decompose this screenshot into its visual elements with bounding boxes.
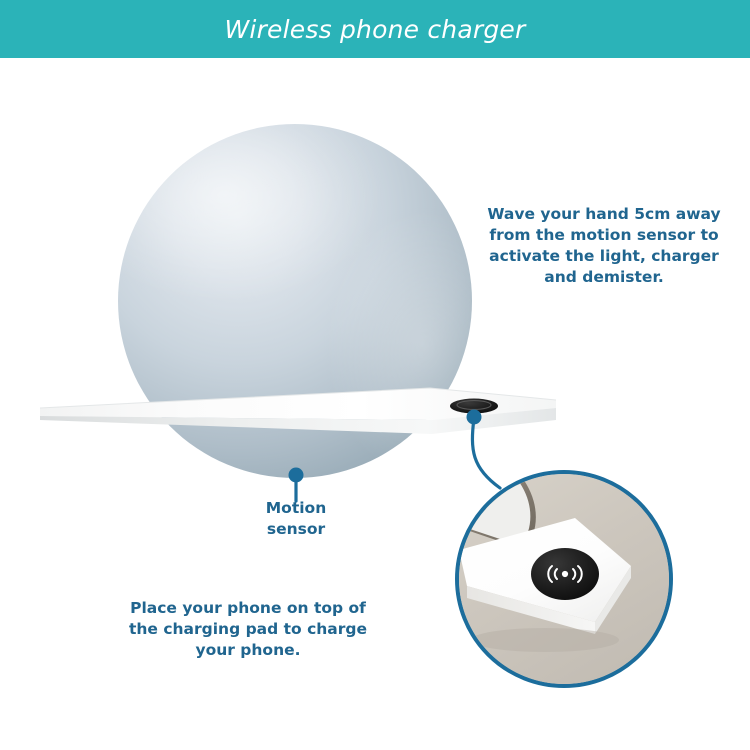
inset-pad-center-dot (562, 571, 568, 577)
charging-pad (450, 399, 498, 414)
mirror-reflection-highlight (118, 124, 472, 478)
inset-shelf-shadow (471, 628, 619, 652)
illustration-stage: Wave your hand 5cm away from the motion … (0, 58, 750, 750)
callout-place-line-1: Place your phone on top of (98, 598, 398, 619)
page-title: Wireless phone charger (225, 15, 526, 44)
charging-pad-inner-ring (457, 401, 491, 410)
callout-wave-your-hand: Wave your hand 5cm away from the motion … (468, 204, 740, 288)
callout-place-your-phone: Place your phone on top of the charging … (98, 598, 398, 661)
round-mirror (118, 124, 472, 478)
header-band: Wireless phone charger (0, 0, 750, 58)
label-motion-sensor-line-2: sensor (232, 519, 360, 540)
callout-place-line-3: your phone. (98, 640, 398, 661)
label-motion-sensor: Motion sensor (232, 498, 360, 540)
callout-wave-line-1: Wave your hand 5cm away (468, 204, 740, 225)
callout-place-line-2: the charging pad to charge (98, 619, 398, 640)
magnifier-inset-scene (455, 470, 673, 688)
callout-wave-line-4: and demister. (468, 267, 740, 288)
magnifier-inset (455, 470, 673, 688)
label-motion-sensor-line-1: Motion (232, 498, 360, 519)
leader-dot-charging-pad (467, 410, 482, 425)
callout-wave-line-3: activate the light, charger (468, 246, 740, 267)
callout-wave-line-2: from the motion sensor to (468, 225, 740, 246)
